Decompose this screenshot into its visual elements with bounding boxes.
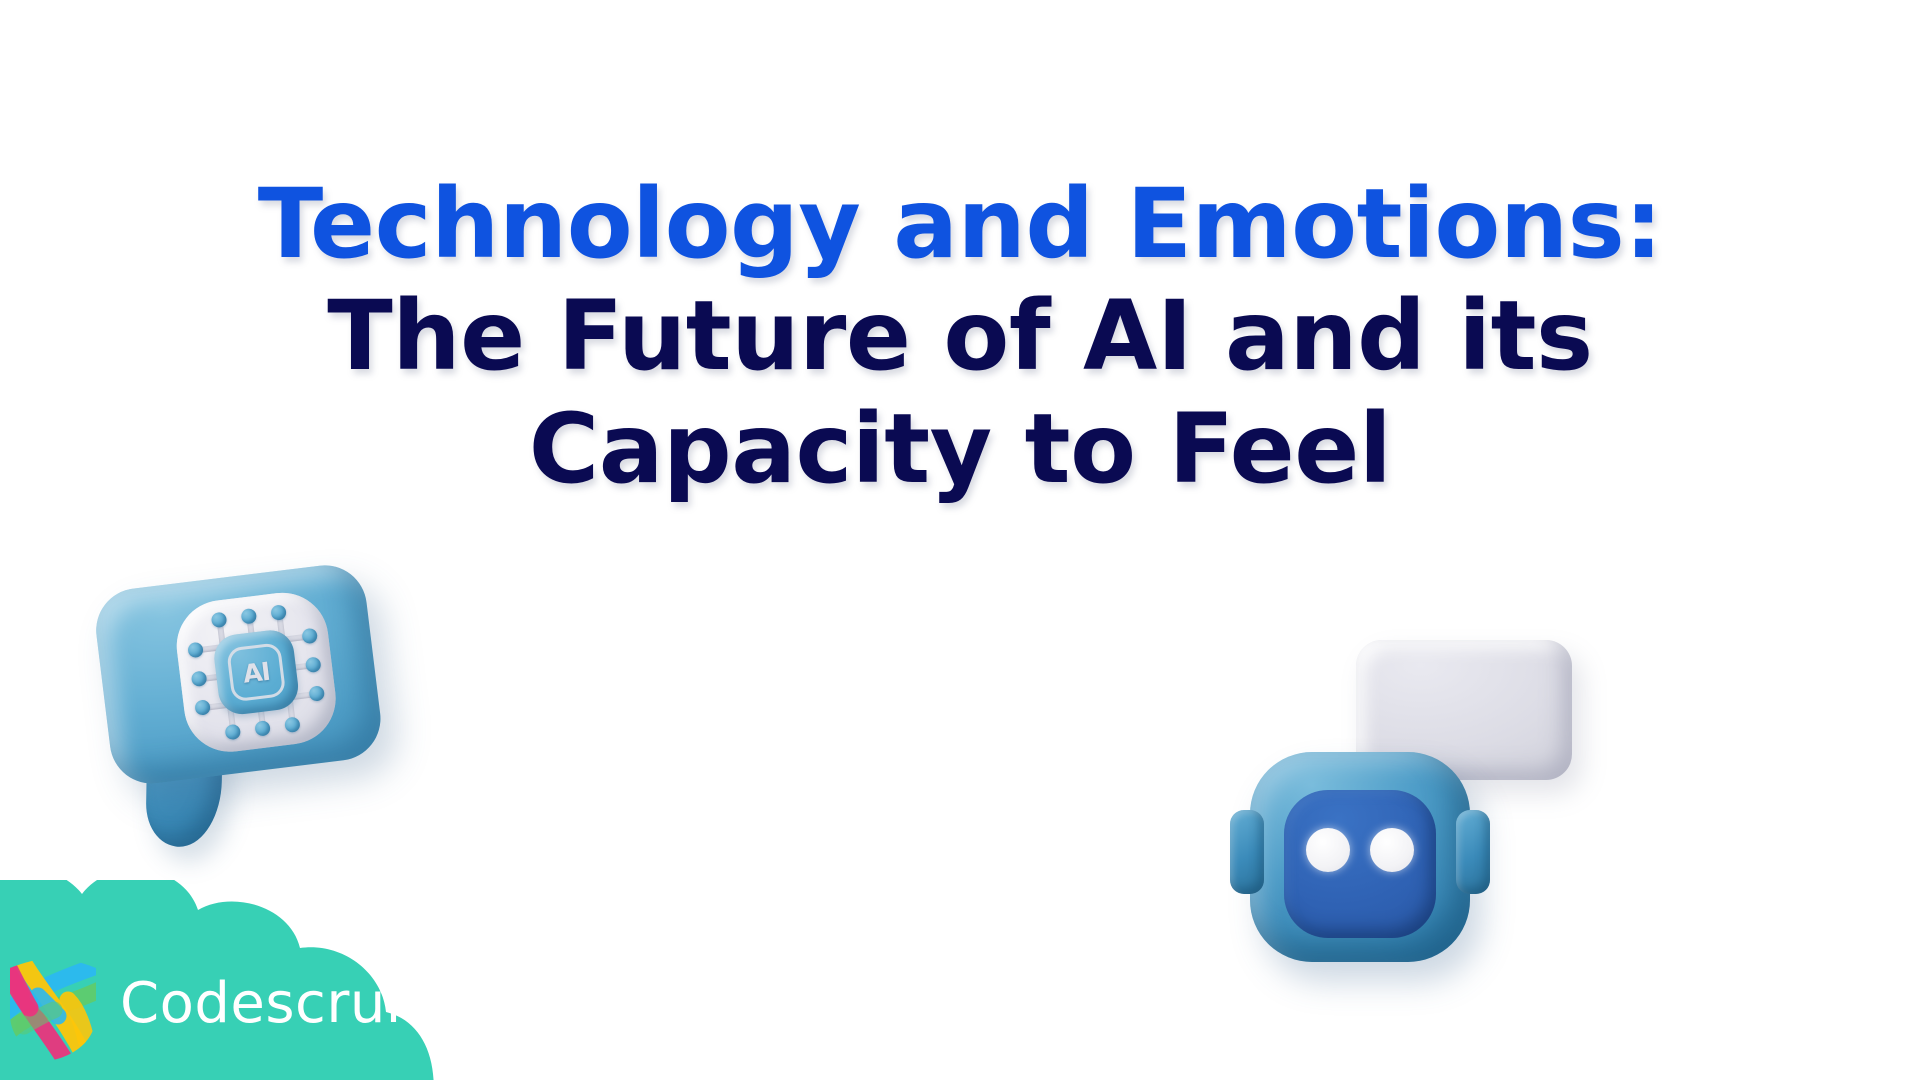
title-line-2: The Future of AI and its (0, 280, 1920, 392)
robot-head (1250, 752, 1470, 962)
chip-dot-left-2 (191, 670, 208, 687)
chip-dot-left-1 (187, 642, 204, 659)
chip-plate: AI (172, 588, 341, 757)
title-line-3: Capacity to Feel (0, 393, 1920, 505)
brand-badge: Codescrum (0, 880, 610, 1080)
slide-canvas: Technology and Emotions: The Future of A… (0, 0, 1920, 1080)
chip-dot-bottom-2 (254, 720, 271, 737)
codescrum-logo-mark (4, 956, 102, 1062)
chip-dot-top-3 (270, 604, 287, 621)
ai-chip-speech-bubble-icon: AI (91, 558, 414, 881)
chip-inner-frame: AI (226, 642, 286, 702)
title-line-1: Technology and Emotions: (0, 168, 1920, 280)
robot-eye-left (1306, 828, 1350, 872)
chip-dot-right-3 (308, 685, 325, 702)
chip-dot-bottom-3 (284, 716, 301, 733)
robot-chat-icon (1222, 640, 1602, 970)
chip-dot-left-3 (194, 699, 211, 716)
page-title: Technology and Emotions: The Future of A… (0, 168, 1920, 505)
brand-name: Codescrum (120, 976, 441, 1032)
speech-bubble-body: AI (91, 561, 385, 789)
robot-ear-left (1230, 810, 1264, 894)
chip-dot-bottom-1 (224, 724, 241, 741)
chip-core: AI (212, 628, 301, 717)
chip-dot-right-1 (301, 628, 318, 645)
chip-dot-top-1 (211, 612, 228, 629)
chip-ai-label: AI (241, 658, 271, 686)
robot-ear-right (1456, 810, 1490, 894)
chip-dot-right-2 (305, 656, 322, 673)
robot-eye-right (1370, 828, 1414, 872)
robot-face (1284, 790, 1436, 938)
chip-dot-top-2 (240, 608, 257, 625)
